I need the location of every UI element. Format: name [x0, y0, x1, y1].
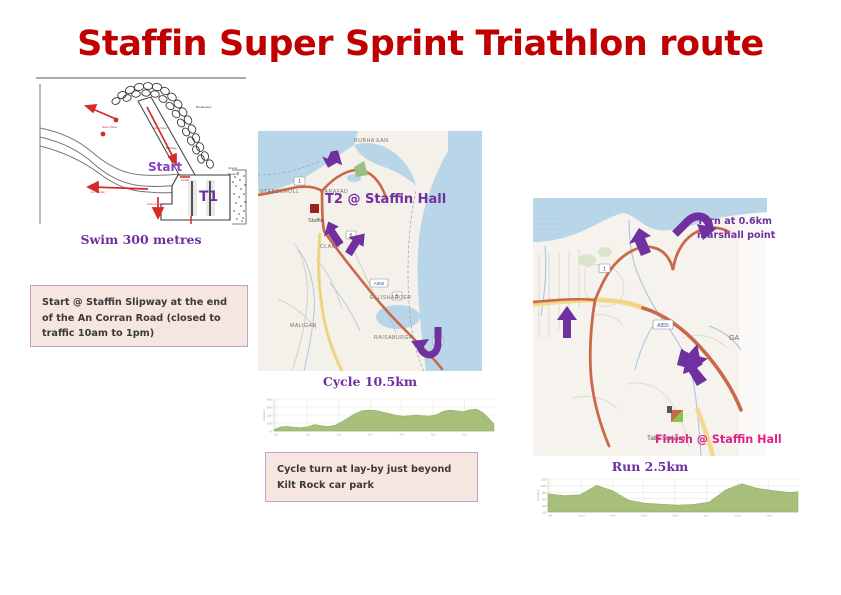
swim-caption: Swim 300 metres [30, 232, 252, 247]
run-turn-line1: Turn at 0.6km [697, 215, 775, 229]
note-cycle-turn: Cycle turn at lay-by just beyond Kilt Ro… [265, 452, 478, 502]
svg-text:RUBHA EAN: RUBHA EAN [354, 138, 388, 144]
svg-text:Slipway: Slipway [166, 146, 177, 150]
svg-text:0.4mi: 0.4mi [609, 513, 616, 517]
svg-text:0mi: 0mi [274, 432, 279, 436]
svg-text:1mi: 1mi [704, 513, 709, 517]
svg-text:1: 1 [298, 179, 301, 185]
svg-text:Swim Start: Swim Start [152, 126, 167, 130]
svg-text:Elevation: Elevation [536, 489, 540, 501]
svg-text:200ft: 200ft [267, 414, 273, 418]
run-elevation-profile: 120ft100ft80ft60ft40ft20ft0mi0.2mi0.4mi0… [518, 475, 802, 522]
svg-text:A855: A855 [657, 323, 669, 329]
svg-text:Breakwater: Breakwater [196, 105, 212, 109]
run-finish-label: Finish @ Staffin Hall [655, 432, 782, 448]
svg-text:Finish: Finish [181, 178, 190, 182]
run-profile-svg: 120ft100ft80ft60ft40ft20ft0mi0.2mi0.4mi0… [518, 475, 802, 522]
svg-text:0.2mi: 0.2mi [578, 513, 585, 517]
svg-text:400ft: 400ft [267, 398, 273, 402]
svg-text:3mi: 3mi [368, 432, 373, 436]
svg-text:Gravel: Gravel [228, 166, 237, 170]
svg-text:1mi: 1mi [305, 432, 310, 436]
run-turn-line2: marshall point [697, 229, 775, 243]
slide-root: Staffin Super Sprint Triathlon route [0, 0, 841, 595]
cycle-map[interactable]: 1 6 A855 5 4 RUBHA EAN STENSCHOLL GARAFA… [258, 131, 482, 371]
svg-text:1: 1 [603, 267, 606, 273]
cycle-elevation-profile: 400ft300ft200ft100ft0ft0mi1mi2mi3mi4mi5m… [248, 395, 498, 440]
svg-text:20ft: 20ft [542, 511, 547, 515]
swim-map: Breakwater Slipway Gravel Parking Swim S… [30, 74, 252, 229]
svg-text:ELLISHADDER: ELLISHADDER [370, 295, 412, 301]
note-start-location: Start @ Staffin Slipway at the end of th… [30, 285, 248, 347]
cycle-t2-label: T2 @ Staffin Hall [325, 191, 446, 210]
svg-text:Swim Start: Swim Start [102, 125, 117, 129]
svg-text:300ft: 300ft [267, 406, 273, 410]
svg-text:An Corran: An Corran [91, 190, 105, 194]
svg-text:100ft: 100ft [541, 484, 547, 488]
cycle-caption: Cycle 10.5km [258, 374, 482, 389]
svg-text:0ft: 0ft [270, 430, 273, 434]
svg-text:Staffin: Staffin [308, 218, 324, 224]
svg-text:Swim Finish: Swim Finish [147, 202, 164, 206]
swim-diagram-svg: Breakwater Slipway Gravel Parking Swim S… [30, 74, 252, 229]
svg-text:RAISABURGH: RAISABURGH [374, 335, 413, 341]
svg-text:100ft: 100ft [267, 422, 273, 426]
swim-start-label: Start [148, 160, 182, 174]
svg-text:60ft: 60ft [542, 497, 547, 501]
svg-text:0.8mi: 0.8mi [672, 513, 679, 517]
svg-text:GA: GA [729, 335, 739, 342]
cycle-map-svg: 1 6 A855 5 4 RUBHA EAN STENSCHOLL GARAFA… [258, 131, 482, 371]
svg-text:120ft: 120ft [541, 478, 547, 482]
svg-text:6mi: 6mi [462, 432, 467, 436]
svg-text:A855: A855 [374, 281, 385, 286]
svg-text:4mi: 4mi [400, 432, 405, 436]
run-caption: Run 2.5km [533, 459, 767, 474]
svg-text:40ft: 40ft [542, 504, 547, 508]
cycle-profile-svg: 400ft300ft200ft100ft0ft0mi1mi2mi3mi4mi5m… [248, 395, 498, 440]
page-title: Staffin Super Sprint Triathlon route [0, 24, 841, 64]
svg-text:1.4mi: 1.4mi [766, 513, 773, 517]
svg-text:1.2mi: 1.2mi [734, 513, 741, 517]
swim-t1-label: T1 [199, 189, 218, 205]
svg-text:5mi: 5mi [431, 432, 436, 436]
svg-text:Elevation: Elevation [262, 409, 266, 421]
svg-text:80ft: 80ft [542, 491, 547, 495]
svg-text:STENSCHOLL: STENSCHOLL [260, 189, 300, 195]
svg-text:Parking: Parking [228, 172, 239, 176]
svg-text:MALIGAR: MALIGAR [290, 323, 317, 329]
svg-text:2mi: 2mi [337, 432, 342, 436]
run-turn-label: Turn at 0.6km marshall point [697, 215, 775, 243]
svg-text:0mi: 0mi [548, 513, 553, 517]
svg-text:0.6mi: 0.6mi [641, 513, 648, 517]
